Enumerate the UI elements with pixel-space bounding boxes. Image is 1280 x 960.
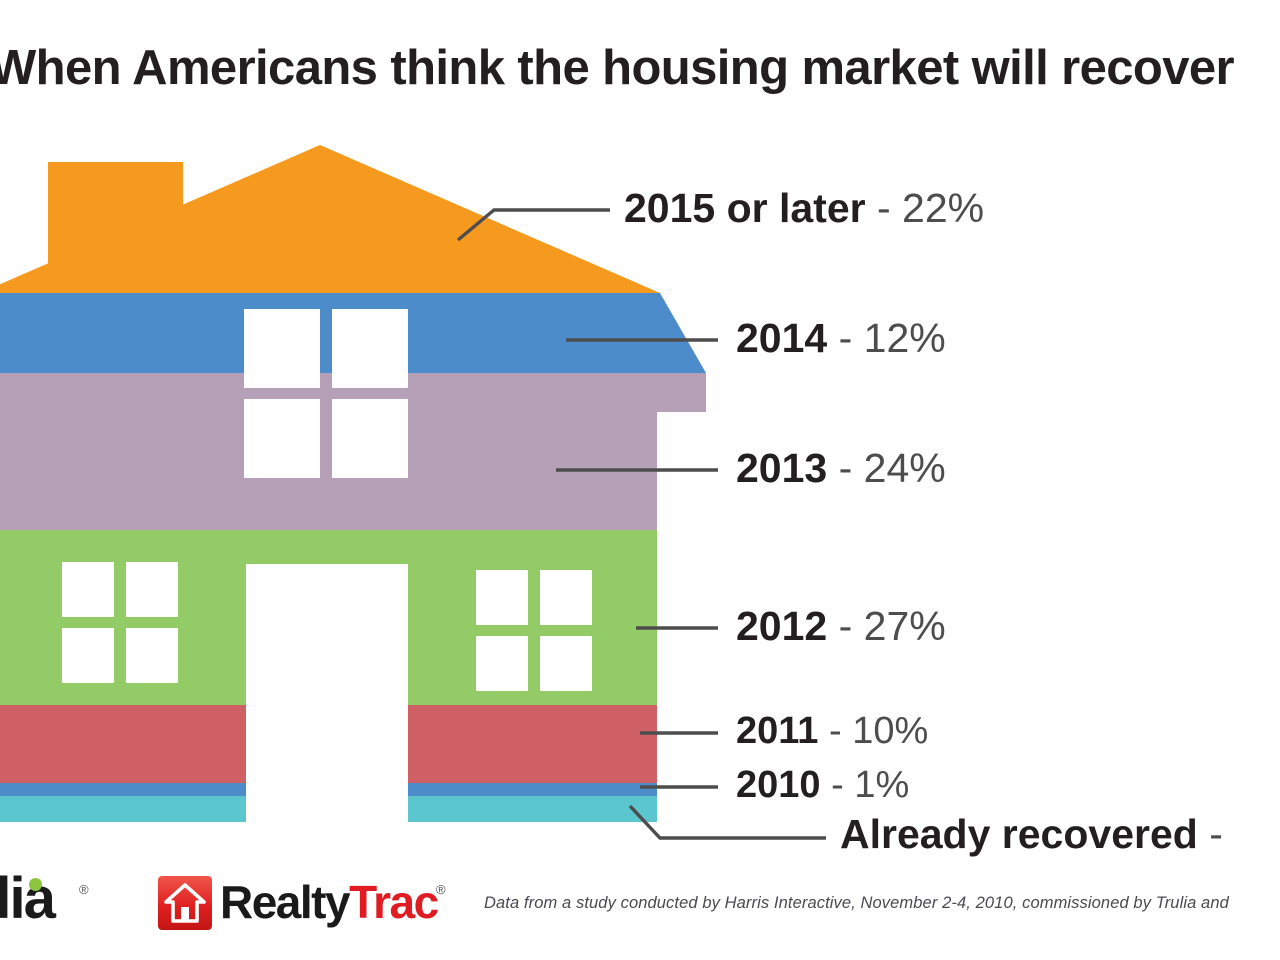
label-2015: 2015 or later - 22%	[624, 188, 984, 229]
infographic-canvas: When Americans think the housing market …	[0, 0, 1280, 960]
label-2012-year: 2012	[736, 603, 827, 649]
label-2014: 2014 - 12%	[736, 318, 946, 359]
label-2011-year: 2011	[736, 710, 818, 752]
trulia-registered-mark: ®	[79, 882, 89, 897]
label-2010-pct: 1%	[854, 764, 909, 806]
label-already-recovered-text: Already recovered	[840, 811, 1198, 857]
label-2010-year: 2010	[736, 764, 821, 806]
label-2015-year: 2015 or later	[624, 185, 866, 231]
label-2013-sep: -	[827, 445, 863, 491]
roof-eave-overhang	[657, 373, 706, 412]
realtytrac-word-realty: Realty	[220, 876, 349, 928]
label-2012: 2012 - 27%	[736, 606, 946, 647]
leader-already-recovered	[630, 806, 826, 838]
label-2013-year: 2013	[736, 445, 827, 491]
label-2012-pct: 27%	[864, 603, 946, 649]
band-2015-orange	[0, 145, 660, 295]
label-2013-pct: 24%	[864, 445, 946, 491]
realtytrac-registered-mark: ®	[436, 882, 446, 897]
label-2015-pct: 22%	[902, 185, 984, 231]
realtytrac-house-badge	[158, 876, 212, 930]
label-2014-sep: -	[827, 315, 863, 361]
label-2011-pct: 10%	[852, 710, 928, 752]
label-2014-year: 2014	[736, 315, 827, 361]
label-2013: 2013 - 24%	[736, 448, 946, 489]
label-2011: 2011 - 10%	[736, 712, 928, 750]
footer: ulia ® RealtyTrac ® Data from a study co…	[0, 858, 1280, 960]
realtytrac-wordmark: RealtyTrac	[220, 879, 438, 925]
label-already-recovered: Already recovered -	[840, 814, 1223, 855]
source-note: Data from a study conducted by Harris In…	[484, 894, 1229, 913]
label-2014-pct: 12%	[864, 315, 946, 361]
label-2010-sep: -	[821, 764, 855, 806]
label-2015-sep: -	[866, 185, 902, 231]
trulia-logo[interactable]: ulia ®	[0, 868, 132, 938]
trulia-dot-icon	[29, 878, 42, 891]
label-2012-sep: -	[827, 603, 863, 649]
front-door	[246, 564, 408, 824]
trulia-wordmark: ulia	[0, 870, 54, 928]
label-already-recovered-sep: -	[1198, 811, 1223, 857]
realtytrac-word-trac: Trac	[349, 876, 438, 928]
band-2013-purple	[0, 373, 657, 530]
label-2010: 2010 - 1%	[736, 766, 909, 804]
label-2011-sep: -	[818, 710, 852, 752]
house-icon	[158, 876, 212, 930]
